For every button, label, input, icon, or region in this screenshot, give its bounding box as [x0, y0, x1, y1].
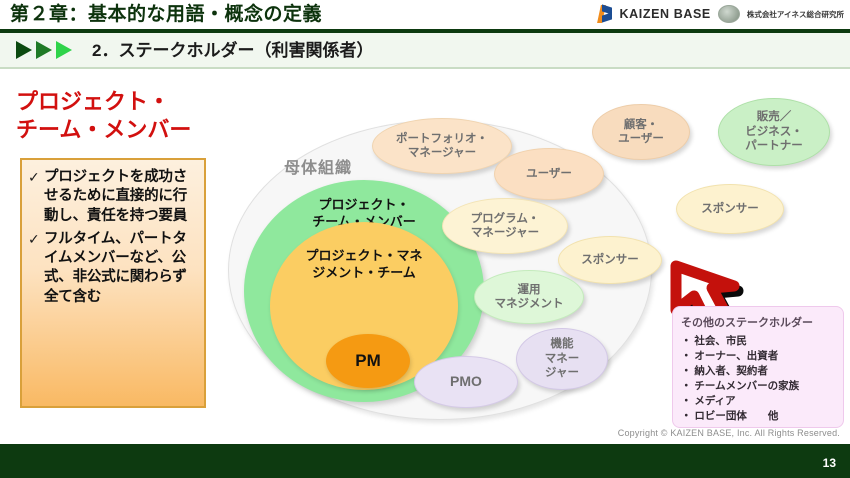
ellipse-sponsor-inside: スポンサー — [558, 236, 662, 284]
ellipse-functional-manager: 機能 マネー ジャー — [516, 328, 608, 390]
ellipse-portfolio-manager: ポートフォリオ・ マネージャー — [372, 118, 512, 174]
definition-box: ✓ プロジェクトを成功させるために直接的に行動し、責任を持つ要員 ✓ フルタイム… — [20, 158, 206, 408]
page-title: 第２章：基本的な用語・概念の定義 — [10, 2, 630, 28]
list-item: ✓ フルタイム、パートタイムメンバーなど、公式、非公式に関わらず全て含む — [28, 230, 197, 307]
other-stakeholders-box: その他のステークホルダー ・ 社会、市民 ・ オーナー、出資者 ・ 納入者、契約… — [672, 306, 844, 428]
left-heading: プロジェクト・ チーム・メンバー — [16, 88, 231, 144]
kaizen-logo-icon — [597, 5, 613, 23]
logo-area: KAIZEN BASE 株式会社アイネス総合研究所 — [597, 3, 844, 25]
ellipse-user: ユーザー — [494, 148, 604, 200]
check-icon: ✓ — [28, 168, 44, 187]
ines-logo-icon — [718, 5, 740, 23]
list-item-text: フルタイム、パートタイムメンバーなど、公式、非公式に関わらず全て含む — [44, 230, 197, 307]
ellipse-sponsor-outside: スポンサー — [676, 184, 784, 234]
copyright-text: Copyright © KAIZEN BASE, Inc. All Rights… — [618, 428, 840, 438]
check-icon: ✓ — [28, 230, 44, 249]
stakeholder-diagram: 母体組織 プロジェクト・ チーム・メンバー プロジェクト・マネ ジメント・チーム… — [228, 112, 668, 424]
list-item-text: プロジェクトを成功させるために直接的に行動し、責任を持つ要員 — [44, 168, 197, 226]
list-item: ・ ロビー団体 他 — [681, 409, 835, 424]
other-stakeholders-title: その他のステークホルダー — [681, 314, 835, 330]
ellipse-sales-business-partner: 販売／ ビジネス・ パートナー — [718, 98, 830, 166]
list-item: ・ オーナー、出資者 — [681, 349, 835, 364]
left-heading-line2: チーム・メンバー — [16, 116, 231, 144]
ines-logo-text: 株式会社アイネス総合研究所 — [747, 9, 844, 20]
chevron-arrows-icon — [16, 41, 86, 59]
kaizen-logo-text: KAIZEN BASE — [620, 7, 711, 21]
page-number: 13 — [823, 456, 836, 470]
left-heading-line1: プロジェクト・ — [16, 88, 231, 116]
list-item: ・ メディア — [681, 394, 835, 409]
project-management-team-label: プロジェクト・マネ ジメント・チーム — [270, 248, 458, 282]
list-item: ✓ プロジェクトを成功させるために直接的に行動し、責任を持つ要員 — [28, 168, 197, 226]
list-item: ・ 納入者、契約者 — [681, 364, 835, 379]
section-title: 2．ステークホルダー（利害関係者） — [92, 38, 373, 64]
list-item: ・ チームメンバーの家族 — [681, 379, 835, 394]
ellipse-operations-management: 運用 マネジメント — [474, 270, 584, 324]
ellipse-pmo: PMO — [414, 356, 518, 408]
pm-label: PM — [355, 350, 381, 371]
parent-organization-label: 母体組織 — [284, 154, 352, 178]
list-item: ・ 社会、市民 — [681, 334, 835, 349]
ellipse-customer-user: 顧客・ ユーザー — [592, 104, 690, 160]
slide-canvas: 第２章：基本的な用語・概念の定義 KAIZEN BASE 株式会社アイネス総合研… — [0, 0, 850, 478]
footer-bar — [0, 444, 850, 478]
section-divider — [0, 67, 850, 69]
pm-circle: PM — [326, 334, 410, 388]
ellipse-program-manager: プログラム・ マネージャー — [442, 198, 568, 254]
